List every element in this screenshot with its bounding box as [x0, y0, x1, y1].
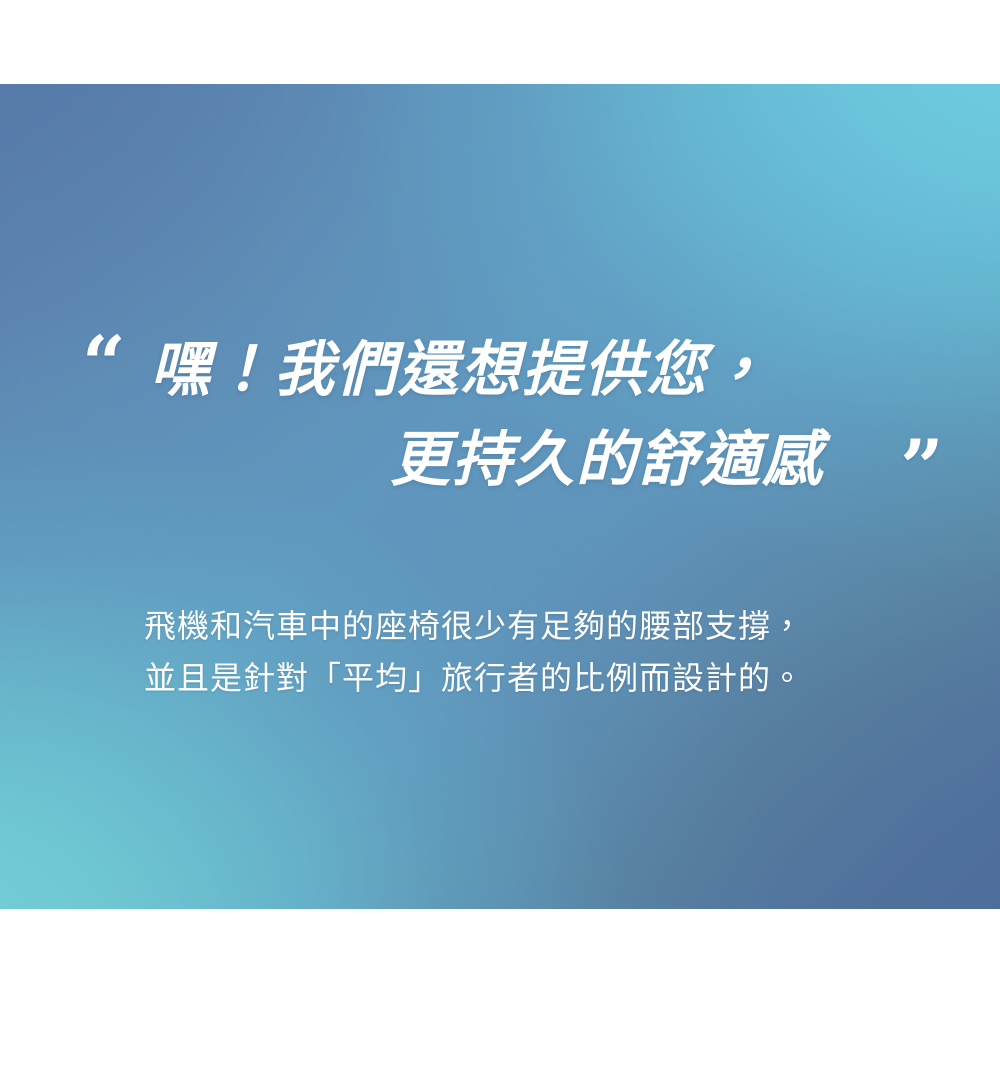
headline-line-1: 嘿！我們還想提供您， — [150, 340, 770, 400]
open-quote-icon: “ — [82, 326, 124, 402]
close-quote-icon: ” — [900, 430, 942, 506]
body-text-block: 飛機和汽車中的座椅很少有足夠的腰部支撐， 並且是針對「平均」旅行者的比例而設計的… — [144, 600, 904, 704]
banner-page: “ 嘿！我們還想提供您， 更持久的舒適感 ” 飛機和汽車中的座椅很少有足夠的腰部… — [0, 0, 1000, 1090]
body-line-1: 飛機和汽車中的座椅很少有足夠的腰部支撐， — [144, 600, 904, 652]
headline-line-2: 更持久的舒適感 — [390, 430, 824, 490]
body-line-2: 並且是針對「平均」旅行者的比例而設計的。 — [144, 652, 904, 704]
gradient-banner: “ 嘿！我們還想提供您， 更持久的舒適感 ” 飛機和汽車中的座椅很少有足夠的腰部… — [0, 84, 1000, 909]
banner-content: “ 嘿！我們還想提供您， 更持久的舒適感 ” 飛機和汽車中的座椅很少有足夠的腰部… — [0, 84, 1000, 909]
